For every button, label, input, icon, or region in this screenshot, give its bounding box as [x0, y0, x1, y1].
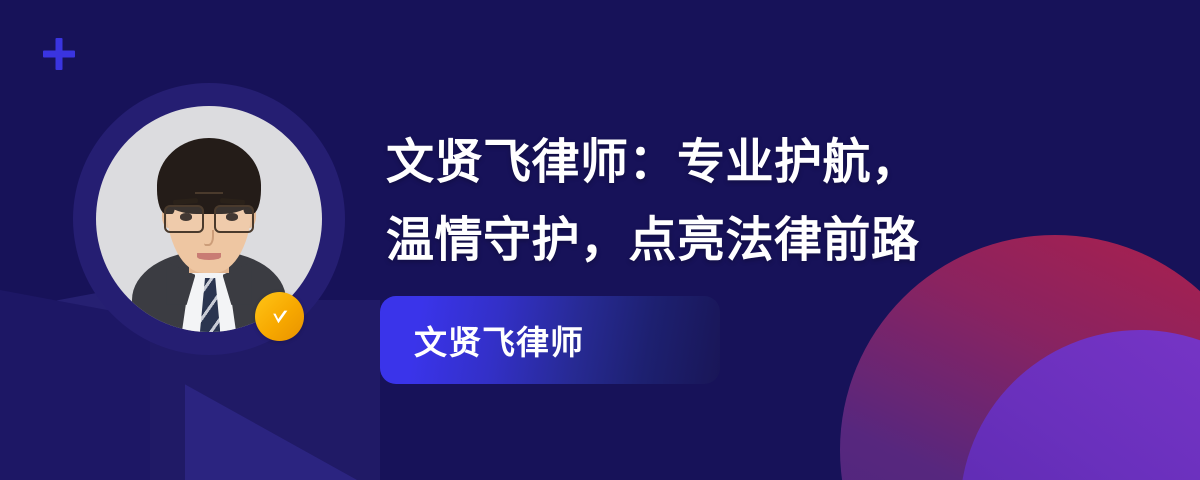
lawyer-profile-banner: 文贤飞律师：专业护航， 温情守护，点亮法律前路 文贤飞律师 [0, 0, 1200, 480]
plus-icon [41, 36, 77, 72]
page-title: 文贤飞律师：专业护航， 温情守护，点亮法律前路 [386, 124, 1086, 280]
lawyer-name-button[interactable]: 文贤飞律师 [380, 296, 720, 384]
decor-circle-violet [960, 330, 1200, 480]
verified-check-icon [255, 292, 304, 341]
avatar [73, 83, 345, 355]
